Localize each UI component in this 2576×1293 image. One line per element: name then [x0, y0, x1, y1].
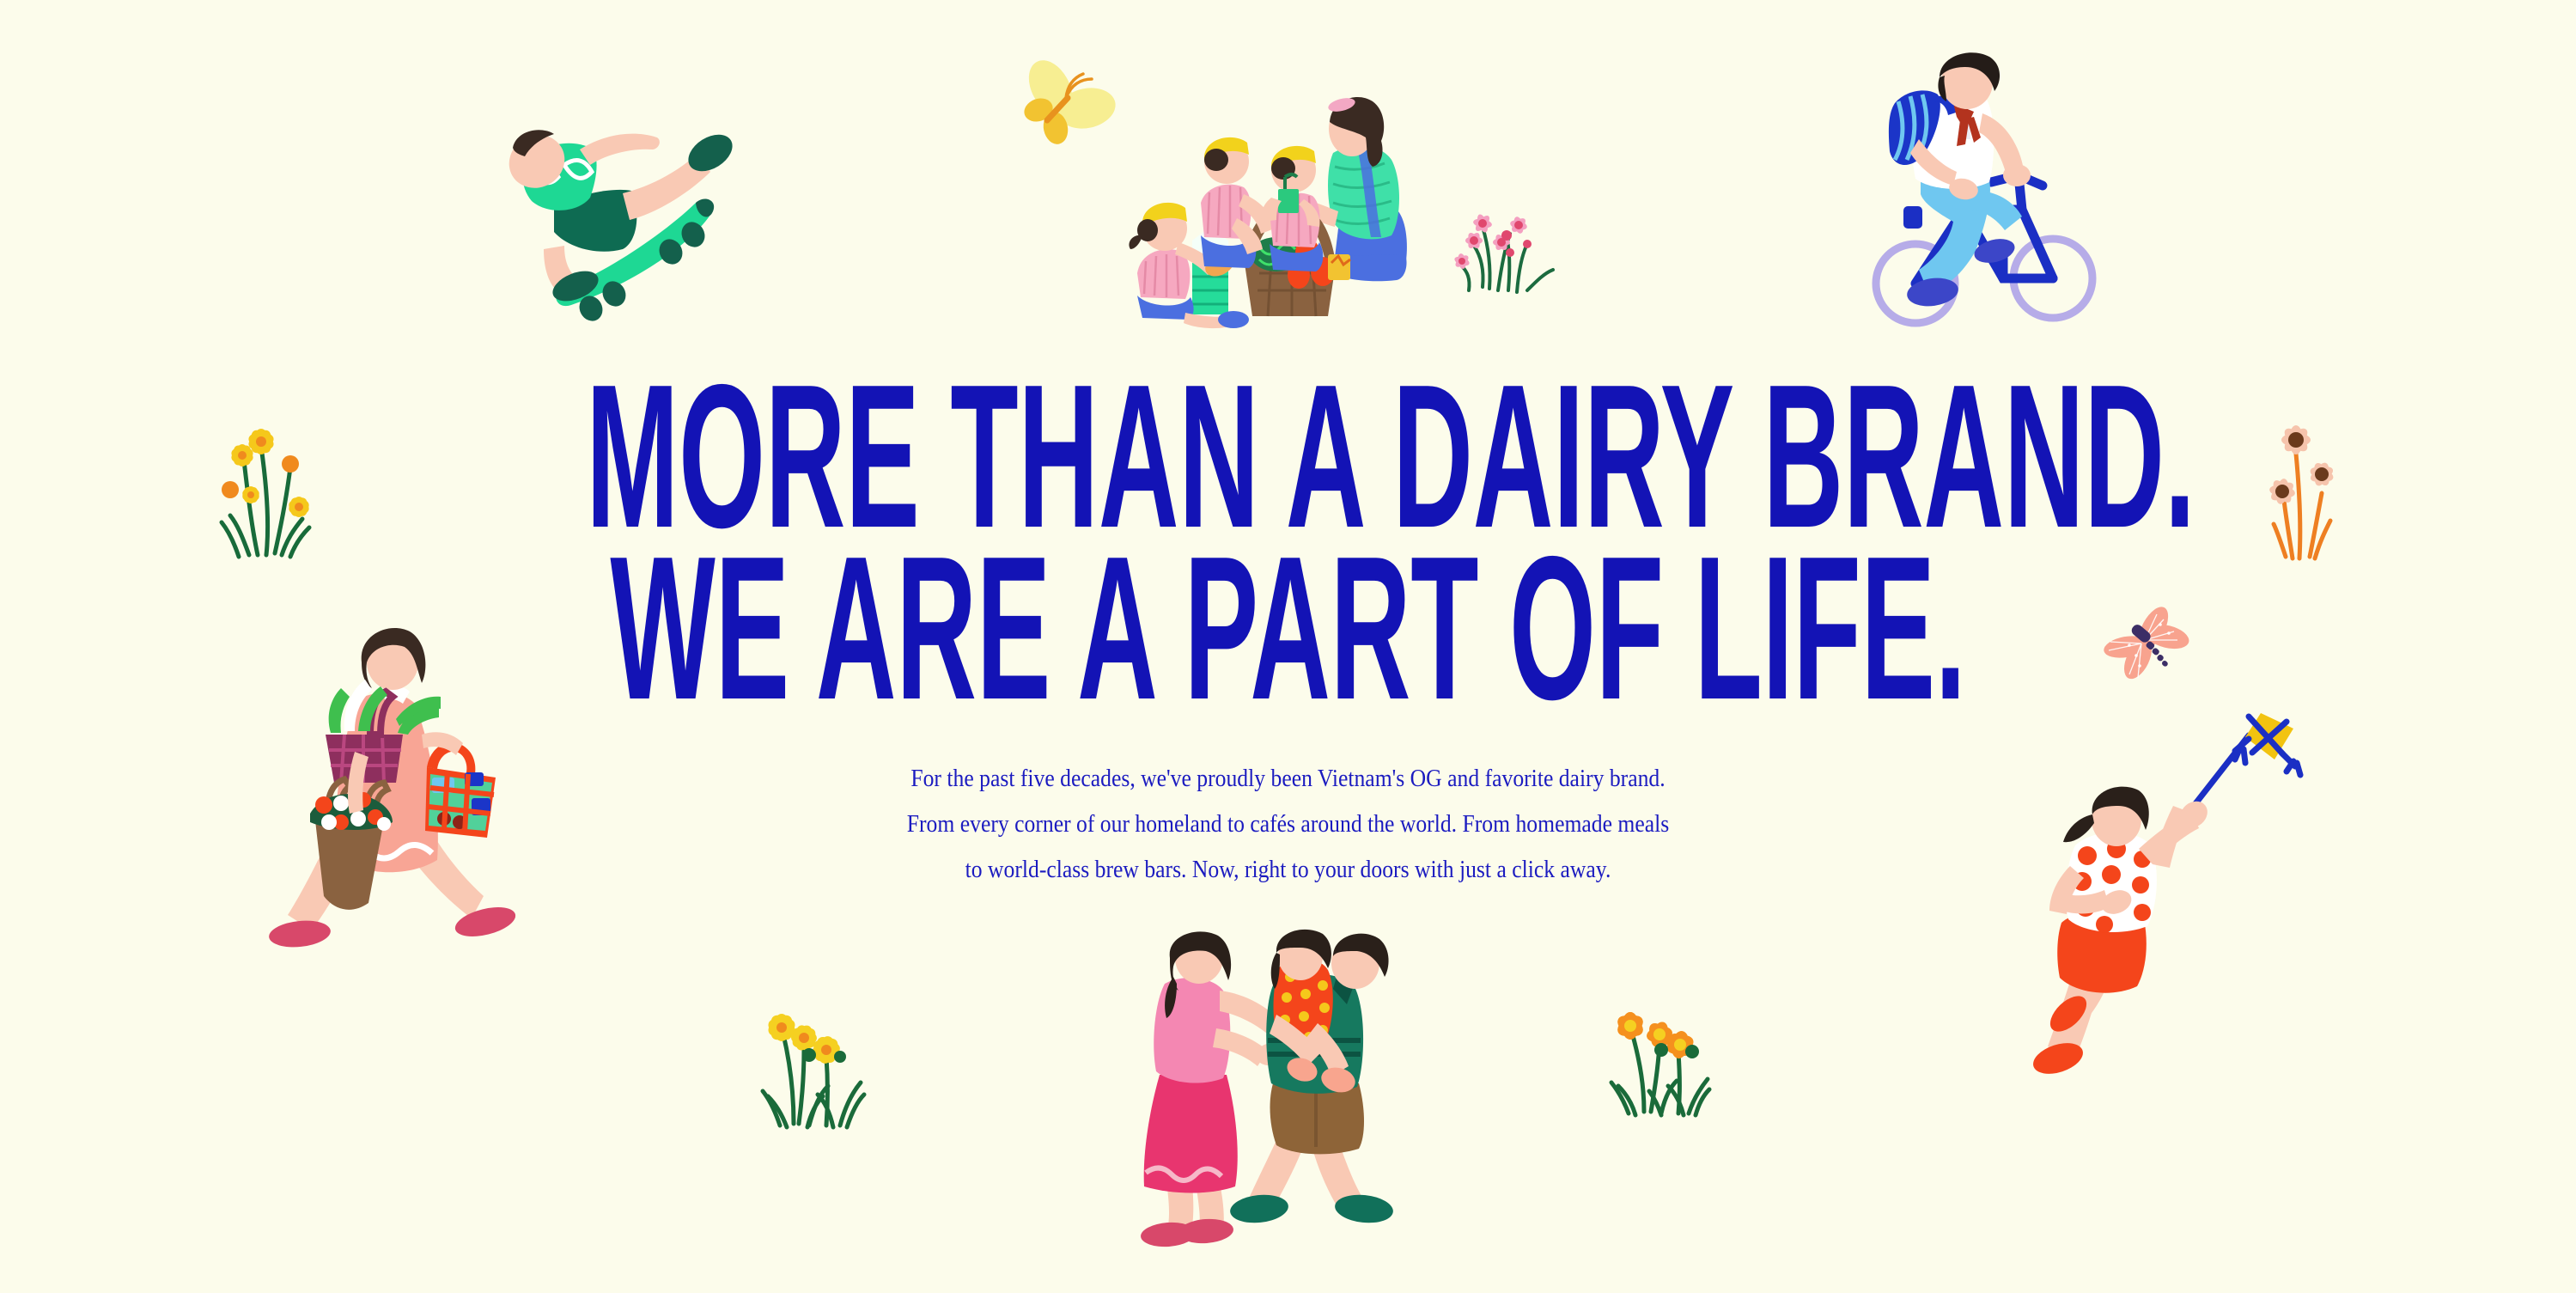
illustration-yellow-flowers-left: [213, 411, 359, 565]
illustration-yellow-flowers-bottom-left: [756, 997, 910, 1151]
illustration-pink-flowers: [1453, 191, 1591, 311]
body-copy: For the past five decades, we've proudly…: [129, 756, 2447, 893]
body-line-3: to world-class brew bars. Now, right to …: [129, 847, 2447, 893]
illustration-brown-daisies: [2272, 411, 2409, 565]
illustration-cyclist: [1874, 45, 2149, 341]
headline-line-1: MORE THAN A DAIRY BRAND.: [586, 371, 1989, 543]
body-line-2: From every corner of our homeland to caf…: [129, 802, 2447, 847]
page-title: MORE THAN A DAIRY BRAND. WE ARE A PART O…: [586, 371, 1989, 715]
body-line-1: For the past five decades, we've proudly…: [129, 756, 2447, 802]
illustration-dragonfly: [2100, 606, 2212, 692]
headline-line-2: WE ARE A PART OF LIFE.: [586, 543, 1989, 715]
hero-banner: MORE THAN A DAIRY BRAND. WE ARE A PART O…: [0, 0, 2576, 1289]
illustration-skateboarder: [494, 112, 752, 339]
illustration-picnic-family: [1108, 58, 1469, 333]
illustration-orange-flowers-bottom-right: [1580, 998, 1726, 1144]
illustration-walking-family: [1117, 932, 1426, 1293]
